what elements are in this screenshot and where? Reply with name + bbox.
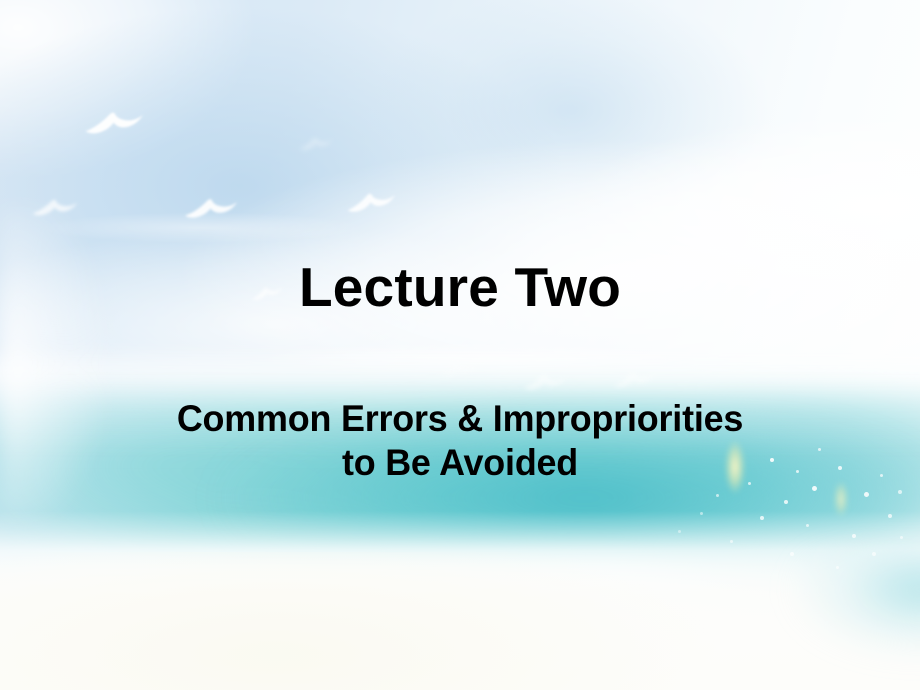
seagull-icon (297, 128, 335, 155)
seagull-icon (82, 97, 147, 143)
slide-subtitle: Common Errors & Impropriorities to Be Av… (0, 397, 920, 484)
slide-subtitle-line-2: to Be Avoided (14, 441, 906, 485)
slide-title: Lecture Two (0, 258, 920, 317)
corner-teal-wash (718, 552, 920, 676)
presentation-slide: Lecture Two Common Errors & Impropriorit… (0, 0, 920, 690)
slide-subtitle-line-1: Common Errors & Impropriorities (14, 397, 906, 441)
seagull-icon (343, 180, 398, 219)
seagull-icon (182, 187, 240, 226)
